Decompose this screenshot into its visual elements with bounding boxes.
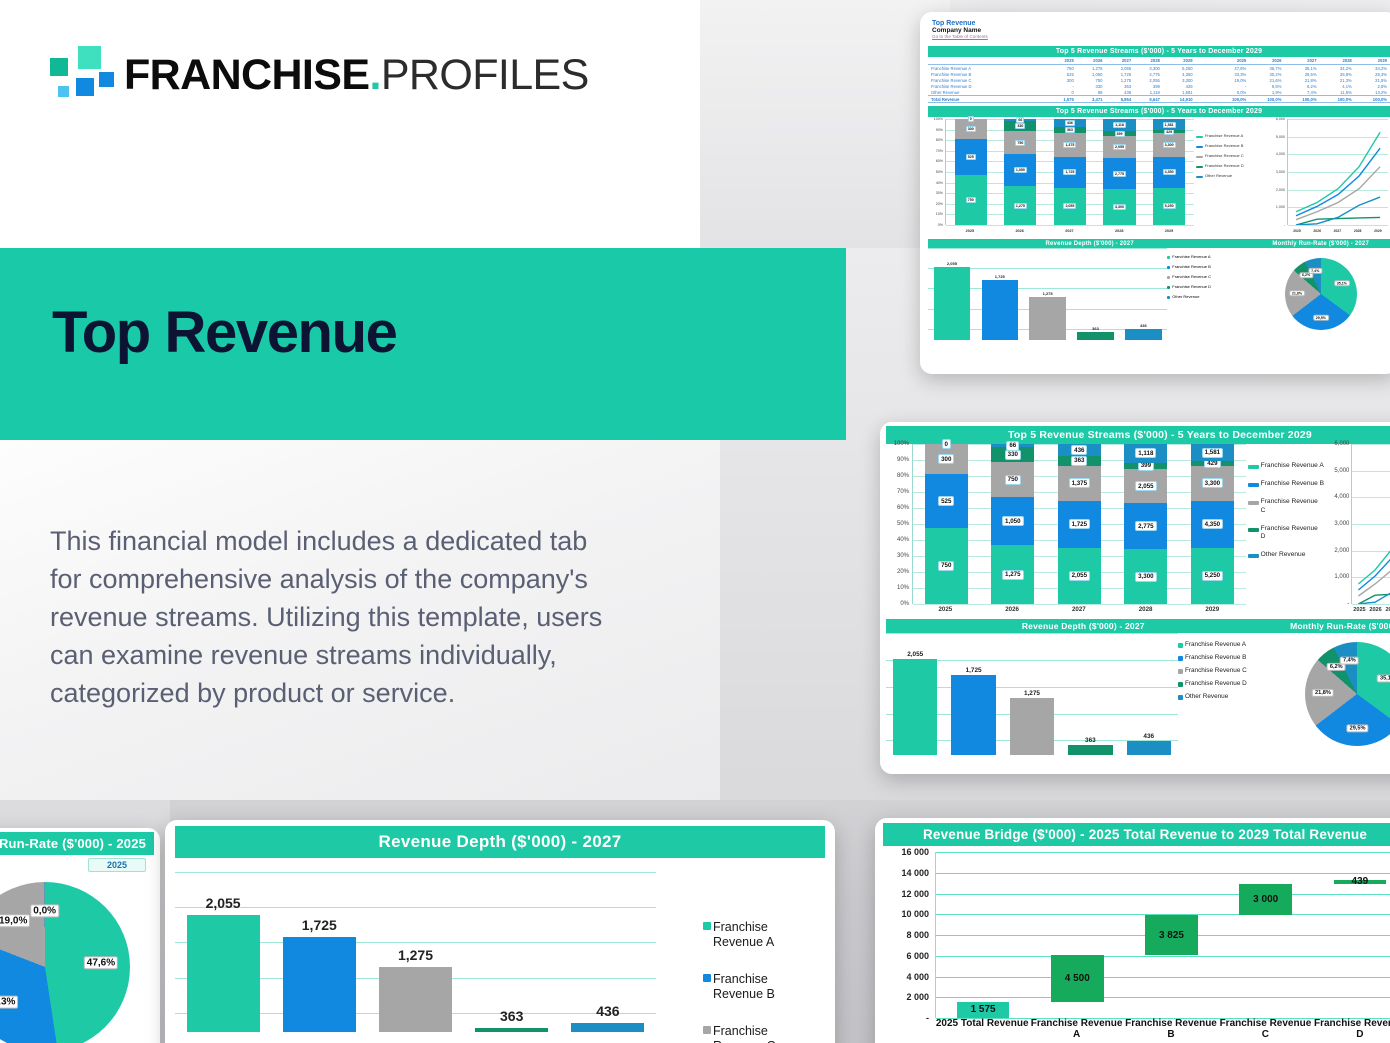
- x-tick: 2027: [1065, 229, 1073, 233]
- bar-segment[interactable]: 1,725: [1054, 157, 1086, 188]
- pie-chart-block-mini: Monthly Run-Rate ($'000) - 2027 35,1%29,…: [1251, 239, 1390, 340]
- bar-value-label: 750: [1005, 475, 1021, 485]
- depth-bar[interactable]: 1,275: [1010, 690, 1054, 755]
- line-plot-area: [1287, 119, 1388, 225]
- gridline: [936, 873, 1390, 874]
- line-series: [1359, 562, 1390, 604]
- legend-label: Other Revenue: [1185, 693, 1228, 701]
- waterfall-bar[interactable]: 1 575: [957, 1002, 1010, 1018]
- stacked-bar[interactable]: 1,2751,05075033066: [1004, 119, 1036, 225]
- bar-segment[interactable]: 399: [1103, 131, 1135, 135]
- bar-value-label: 750: [938, 561, 954, 571]
- bar-rect: [475, 1028, 548, 1032]
- sheet-table-title: Top 5 Revenue Streams ($'000) - 5 Years …: [928, 46, 1390, 57]
- bar-segment[interactable]: 1,581: [1191, 444, 1234, 461]
- depth-bar[interactable]: 2,055: [187, 895, 260, 1032]
- chart-title-runrate-a: Monthly Run-Rate ($'000) - 2027: [1251, 239, 1390, 248]
- legend-label: Franchise Revenue C: [713, 1024, 815, 1043]
- bar-value-label: 436: [1143, 733, 1154, 740]
- bar-value-label: 750: [1015, 140, 1025, 146]
- stacked-bar[interactable]: 7505253000: [925, 444, 968, 604]
- bar-value-label: 1,275: [398, 947, 433, 963]
- bar-value-label: 363: [1065, 127, 1075, 133]
- line-series: [1296, 167, 1380, 220]
- depth-chart-block-mini: Revenue Depth ($'000) - 2027 2,0551,7251…: [928, 239, 1251, 340]
- legend-item: Franchise Revenue B: [1248, 480, 1325, 488]
- bar-segment[interactable]: 436: [1058, 444, 1101, 456]
- stacked-bar[interactable]: 3,3002,7752,0553991,118: [1124, 444, 1167, 604]
- legend-item: Other Revenue: [1196, 173, 1270, 178]
- y-tick: 1,000: [1334, 574, 1349, 580]
- legend-item: Franchise Revenue B: [1196, 143, 1270, 148]
- legend-label: Franchise Revenue D: [1205, 163, 1244, 168]
- bar-segment[interactable]: 66: [991, 444, 1034, 447]
- legend-item: Other Revenue: [1167, 294, 1251, 299]
- pie-slice-label: 7,4%: [1308, 268, 1322, 274]
- legend-item: Franchise Revenue C: [703, 1024, 815, 1043]
- line-chart[interactable]: 6,0005,0004,0003,0002,0001,000-202520262…: [1324, 444, 1390, 616]
- y-tick: 6 000: [906, 951, 929, 961]
- bar-value-label: 0: [968, 116, 974, 122]
- bar-segment[interactable]: 1,118: [1124, 444, 1167, 463]
- depth-bar[interactable]: 363: [1068, 737, 1112, 755]
- x-tick: 2026: [1015, 229, 1023, 233]
- depth-legend-large: Franchise Revenue AFranchise Revenue BFr…: [703, 920, 815, 1043]
- table-col-year: 2028: [1134, 57, 1163, 65]
- x-tick: 2025 Total Revenue: [935, 1018, 1029, 1040]
- y-tick: 10%: [936, 212, 943, 216]
- bar-rect: [1127, 741, 1171, 755]
- bar-rect: [951, 675, 995, 755]
- y-tick: 100%: [934, 117, 943, 121]
- big-second-row: Revenue Depth ($'000) - 2027 2,0551,7251…: [886, 619, 1390, 755]
- bar-value-label: 66: [1016, 117, 1024, 123]
- y-tick: 70%: [936, 149, 943, 153]
- legend-item: Franchise Revenue A: [703, 920, 815, 950]
- bar-value-label: 363: [1071, 456, 1087, 466]
- bar-segment[interactable]: 2,775: [1103, 158, 1135, 188]
- bar-value-label: 2,055: [947, 261, 957, 266]
- depth-bar[interactable]: 1,275: [1029, 291, 1065, 340]
- y-axis: 100%90%80%70%60%50%40%30%20%10%0%: [886, 444, 910, 604]
- bar-value-label: 3,300: [1113, 204, 1126, 210]
- plot-area: 75052530001,2751,050750330662,0551,7251,…: [945, 119, 1194, 225]
- gridline: [886, 633, 1178, 634]
- bar-segment[interactable]: 1,275: [991, 545, 1034, 604]
- chart-title-runrate-b: Monthly Run-Rate ($'000) - 2027: [1281, 619, 1390, 633]
- waterfall-chart[interactable]: 16 00014 00012 00010 0008 0006 0004 0002…: [883, 852, 1390, 1040]
- bar-segment[interactable]: 429: [1153, 130, 1185, 133]
- bar-rect: [1029, 297, 1065, 340]
- bar-rect: [1010, 698, 1054, 755]
- depth-bar[interactable]: 1,725: [982, 274, 1018, 340]
- stacked-bar-chart-mini[interactable]: 100%90%80%70%60%50%40%30%20%10%0%7505253…: [928, 119, 1196, 237]
- bar-value-label: 2,775: [1135, 521, 1156, 531]
- bar-value-label: 1,725: [1063, 169, 1076, 175]
- legend-item: Franchise Revenue C: [1178, 667, 1281, 675]
- bar-value-label: 2,775: [1113, 171, 1126, 177]
- bar-value-label: 1,375: [1069, 478, 1090, 488]
- y-tick: 2,000: [1276, 188, 1285, 192]
- x-axis: 20252026202720282029: [945, 225, 1194, 237]
- y-tick: -: [1347, 601, 1349, 607]
- y-tick: 0%: [900, 601, 909, 607]
- gridline: [175, 872, 656, 873]
- pie-chart-mini[interactable]: 35,1%29,5%21,8%6,2%7,4%: [1251, 248, 1390, 340]
- legend-item: Franchise Revenue C: [1248, 498, 1325, 514]
- table-col-year: 2027: [1105, 57, 1134, 65]
- depth-bars[interactable]: 2,0551,7251,275363436: [886, 633, 1178, 755]
- y-tick: 8 000: [906, 930, 929, 940]
- line-series-group: [1288, 119, 1388, 225]
- y-tick: 10 000: [901, 909, 929, 919]
- waterfall-plot-area: 1 5754 5003 8253 000439: [935, 852, 1390, 1018]
- bar-segment[interactable]: 750: [955, 175, 987, 225]
- sheet-subheading: Company Name: [932, 27, 1386, 34]
- depth-bar[interactable]: 363: [1077, 326, 1113, 340]
- bar-value-label: 1,725: [302, 917, 337, 933]
- gridline: [928, 248, 1167, 249]
- stacked-bar[interactable]: 5,2504,3503,3004291,581: [1153, 119, 1185, 225]
- depth-bar[interactable]: 436: [1125, 323, 1161, 340]
- screenshot-card-pie[interactable]: Monthly Run-Rate ($'000) - 2025 2025 47,…: [0, 828, 160, 1043]
- waterfall-bar[interactable]: 3 825: [1145, 915, 1198, 955]
- bar-segment[interactable]: 2,055: [1058, 548, 1101, 604]
- legend-item: Franchise Revenue A: [1167, 254, 1251, 259]
- line-series: [1359, 488, 1390, 590]
- bar-rect: [187, 915, 260, 1032]
- background-gray-block: [700, 0, 950, 248]
- legend-item: Franchise Revenue B: [1167, 264, 1251, 269]
- bar-value-label: 436: [1140, 323, 1147, 328]
- bar-value-label: 1,725: [1069, 519, 1090, 529]
- legend-label: Franchise Revenue B: [1185, 654, 1246, 662]
- bar-value-label: 750: [966, 197, 976, 203]
- legend-label: Franchise Revenue A: [1185, 641, 1246, 649]
- logo-text-dot: .: [369, 51, 380, 99]
- x-tick: Franchise Revenue C: [1218, 1018, 1312, 1040]
- bar-value-label: 1 575: [971, 1004, 996, 1015]
- big-chart-row: 100%90%80%70%60%50%40%30%20%10%0%7505253…: [886, 444, 1390, 616]
- x-tick: 2029: [1165, 229, 1173, 233]
- stacked-bar[interactable]: 2,0551,7251,375363436: [1058, 444, 1101, 604]
- screenshot-card-waterfall[interactable]: Revenue Bridge ($'000) - 2025 Total Reve…: [875, 818, 1390, 1043]
- mini-second-row: Revenue Depth ($'000) - 2027 2,0551,7251…: [928, 239, 1390, 340]
- bar-value-label: 5,250: [1163, 203, 1176, 209]
- bar-value-label: 1,275: [1043, 291, 1053, 296]
- table-col-year: 2026: [1077, 57, 1106, 65]
- y-tick: 60%: [936, 159, 943, 163]
- bar-segment[interactable]: 5,250: [1153, 188, 1185, 225]
- depth-bar[interactable]: 363: [475, 1008, 548, 1032]
- gridline: [936, 956, 1390, 957]
- bar-value-label: 66: [1006, 441, 1019, 451]
- screenshot-card-spreadsheet[interactable]: Top Revenue Company Name Go to the Table…: [920, 12, 1390, 374]
- bar-rect: [379, 967, 452, 1032]
- table-header-row: 2025202620272028202920252026202720282029: [928, 57, 1390, 65]
- bar-value-label: 2,055: [206, 895, 241, 911]
- y-tick: 16 000: [901, 847, 929, 857]
- hero-banner: Top Revenue: [0, 248, 846, 440]
- depth-legend: Franchise Revenue AFranchise Revenue BFr…: [1178, 633, 1281, 755]
- bar-segment[interactable]: 525: [955, 139, 987, 174]
- y-tick: 40%: [897, 537, 909, 543]
- bar-value-label: 1,581: [1163, 122, 1176, 128]
- stacked-bar[interactable]: 2,0551,7251,375363436: [1054, 119, 1086, 225]
- table-total-row: Total Revenue1,5753,4715,8549,64714,9101…: [928, 96, 1390, 103]
- bar-segment[interactable]: 525: [925, 474, 968, 527]
- pie-chart-2025[interactable]: 47,6%33,3%19,0%0,0%0,0%: [0, 877, 154, 1043]
- y-tick: 80%: [897, 473, 909, 479]
- bar-segment[interactable]: 66: [1004, 119, 1036, 121]
- bar-value-label: 300: [938, 454, 954, 464]
- toc-link[interactable]: Go to the Table of Contents: [932, 34, 1386, 39]
- legend-item: Other Revenue: [1178, 693, 1281, 701]
- bar-segment[interactable]: 3,300: [1103, 189, 1135, 225]
- table-col-pct: 2027: [1284, 57, 1319, 65]
- bar-segment[interactable]: 429: [1191, 461, 1234, 466]
- chart-title-stacked-a: Top 5 Revenue Streams ($'000) - 5 Years …: [928, 106, 1390, 117]
- line-plot-area: [1351, 444, 1390, 604]
- bar-value-label: 2,055: [1113, 144, 1126, 150]
- stacked-bar[interactable]: 3,3002,7752,0553991,118: [1103, 119, 1135, 225]
- bar-segment[interactable]: 1,275: [1004, 186, 1036, 225]
- pie-slice-label: 21,8%: [1289, 290, 1305, 296]
- depth-bars-mini[interactable]: 2,0551,7251,275363436: [928, 248, 1167, 340]
- page-title: Top Revenue: [52, 304, 396, 362]
- line-series: [1296, 132, 1380, 212]
- bar-segment[interactable]: 750: [1004, 131, 1036, 154]
- y-tick: 14 000: [901, 868, 929, 878]
- logo-text-bold: FRANCHISE: [124, 51, 369, 99]
- bar-segment[interactable]: 1,050: [1004, 154, 1036, 186]
- bar-value-label: 3 000: [1253, 894, 1278, 905]
- pie-chart-block: Monthly Run-Rate ($'000) - 2027 35,1%29,…: [1281, 619, 1390, 755]
- bar-value-label: 3 825: [1159, 930, 1184, 941]
- bar-value-label: 330: [1005, 450, 1021, 460]
- y-tick: -: [926, 1013, 929, 1023]
- depth-bar[interactable]: 436: [1127, 733, 1171, 755]
- bar-value-label: 1,275: [1014, 203, 1027, 209]
- bar-value-label: 2,055: [907, 651, 923, 658]
- bar-value-label: 1,118: [1135, 448, 1156, 458]
- legend-item: Franchise Revenue A: [1196, 133, 1270, 138]
- bar-segment[interactable]: 3,300: [1153, 133, 1185, 156]
- bar-value-label: 399: [1115, 131, 1125, 137]
- bar-value-label: 1,050: [1014, 167, 1027, 173]
- bar-rect: [1077, 332, 1113, 340]
- y-tick: 40%: [936, 181, 943, 185]
- bar-segment[interactable]: 3,300: [1191, 466, 1234, 501]
- pie-slice-label: 35,1%: [1377, 675, 1390, 683]
- bar-value-label: 1,275: [1024, 690, 1040, 697]
- bar-segment[interactable]: 2,055: [1124, 469, 1167, 503]
- pie-slice-label: 21,8%: [1312, 689, 1334, 697]
- table-col-pct: 2025: [1214, 57, 1249, 65]
- y-tick: 5,000: [1334, 468, 1349, 474]
- line-chart-mini[interactable]: 6,0005,0004,0003,0002,0001,000-202520262…: [1270, 119, 1390, 237]
- line-x-axis: 20252026202720282029: [1351, 604, 1390, 616]
- bar-segment[interactable]: 2,055: [1103, 136, 1135, 159]
- bar-value-label: 3,300: [1135, 572, 1156, 582]
- depth-bars-large[interactable]: 2,0551,7251,275363436: [175, 872, 656, 1032]
- bar-segment[interactable]: 436: [1054, 119, 1086, 127]
- stacked-bar[interactable]: 5,2504,3503,3004291,581: [1191, 444, 1234, 604]
- y-tick: 50%: [936, 170, 943, 174]
- pie-slice-label: 7,4%: [1340, 657, 1359, 665]
- screenshot-card-charts[interactable]: Top 5 Revenue Streams ($'000) - 5 Years …: [880, 422, 1390, 774]
- depth-bar[interactable]: 1,725: [951, 667, 995, 755]
- legend-item: Franchise Revenue B: [1178, 654, 1281, 662]
- y-tick: 6,000: [1276, 117, 1285, 121]
- bar-segment[interactable]: 5,250: [1191, 548, 1234, 604]
- stacked-legend: Franchise Revenue AFranchise Revenue BFr…: [1248, 444, 1325, 616]
- legend-item: Franchise Revenue D: [1167, 284, 1251, 289]
- bar-segment[interactable]: 363: [1058, 456, 1101, 466]
- table-col-pct: 2028: [1320, 57, 1355, 65]
- y-tick: -: [1284, 223, 1285, 227]
- bar-segment[interactable]: 1,050: [991, 497, 1034, 545]
- y-tick: 4,000: [1334, 494, 1349, 500]
- bar-value-label: 1,375: [1063, 142, 1076, 148]
- depth-bar[interactable]: 1,725: [283, 917, 356, 1032]
- bar-value-label: 436: [1065, 120, 1075, 126]
- bar-value-label: 4,350: [1202, 519, 1223, 529]
- depth-bar[interactable]: 1,275: [379, 947, 452, 1032]
- legend-label: Other Revenue: [1261, 551, 1306, 559]
- stacked-bar-chart[interactable]: 100%90%80%70%60%50%40%30%20%10%0%7505253…: [886, 444, 1248, 616]
- bar-value-label: 3,300: [1202, 478, 1223, 488]
- y-tick: 2 000: [906, 992, 929, 1002]
- chart-title-runrate-2025: Monthly Run-Rate ($'000) - 2025: [0, 832, 154, 855]
- bar-value-label: 1,118: [1113, 122, 1126, 128]
- x-tick: 2028: [1115, 229, 1123, 233]
- bar-value-label: 0: [942, 439, 951, 449]
- y-tick: 3,000: [1276, 170, 1285, 174]
- y-tick: 30%: [897, 553, 909, 559]
- brand-logo: FRANCHISE.PROFILES: [48, 44, 548, 108]
- bar-value-label: 2,055: [1135, 481, 1156, 491]
- chart-title-depth-d: Revenue Depth ($'000) - 2027: [175, 826, 825, 858]
- bar-segment[interactable]: 1,581: [1153, 119, 1185, 130]
- waterfall-bar[interactable]: 4 500: [1051, 955, 1104, 1002]
- y-tick: 20%: [936, 202, 943, 206]
- table-col-year: 2029: [1163, 57, 1196, 65]
- y-tick: 90%: [897, 457, 909, 463]
- bar-segment[interactable]: 2,775: [1124, 503, 1167, 549]
- stacked-bar[interactable]: 1,2751,05075033066: [991, 444, 1034, 604]
- line-x-axis: 20252026202720282029: [1287, 225, 1388, 237]
- depth-bar[interactable]: 2,055: [893, 651, 937, 755]
- bar-segment[interactable]: 399: [1124, 463, 1167, 470]
- gridline: [936, 997, 1390, 998]
- x-axis: 20252026202720282029: [912, 602, 1246, 616]
- table-col-pct: 2029: [1355, 57, 1390, 65]
- pie-slice-label: 29,5%: [1347, 724, 1369, 732]
- bar-value-label: 525: [966, 154, 976, 160]
- bar-value-label: 5,250: [1202, 571, 1223, 581]
- x-tick: Franchise Revenue A: [1029, 1018, 1123, 1040]
- bar-segment[interactable]: 750: [925, 528, 968, 604]
- waterfall-bar[interactable]: 3 000: [1239, 884, 1292, 915]
- bar-rect: [571, 1023, 644, 1032]
- bar-segment[interactable]: 2,055: [1054, 188, 1086, 225]
- bar-segment[interactable]: 3,300: [1124, 549, 1167, 604]
- stacked-bar[interactable]: 7505253000: [955, 119, 987, 225]
- table-col-pct: 2026: [1249, 57, 1284, 65]
- bar-segment[interactable]: 363: [1054, 127, 1086, 134]
- sheet-header: Top Revenue Company Name Go to the Table…: [928, 18, 1390, 43]
- bar-value-label: 1,725: [995, 274, 1005, 279]
- y-tick: 4,000: [1276, 152, 1285, 156]
- y-tick: 2,000: [1334, 548, 1349, 554]
- bar-rect: [934, 267, 970, 340]
- bar-value-label: 1,050: [1002, 516, 1023, 526]
- depth-bar[interactable]: 2,055: [934, 261, 970, 340]
- screenshot-card-depth[interactable]: Revenue Depth ($'000) - 2027 2,0551,7251…: [165, 820, 835, 1043]
- legend-label: Franchise Revenue A: [1205, 133, 1243, 138]
- pie-slice-label: 47,6%: [84, 956, 118, 969]
- line-series: [1359, 516, 1390, 596]
- bar-segment[interactable]: 1,725: [1058, 501, 1101, 548]
- y-tick: 70%: [897, 489, 909, 495]
- x-tick: Franchise Revenue B: [1124, 1018, 1218, 1040]
- chart-title-depth-b: Revenue Depth ($'000) - 2027: [886, 619, 1281, 633]
- depth-legend-mini: Franchise Revenue AFranchise Revenue BFr…: [1167, 248, 1251, 340]
- waterfall-bar[interactable]: 439: [1334, 880, 1387, 885]
- bar-value-label: 363: [500, 1008, 523, 1024]
- x-tick: 2026: [1005, 606, 1019, 613]
- bar-segment[interactable]: 4,350: [1191, 501, 1234, 548]
- x-tick: 2027: [1072, 606, 1086, 613]
- bar-value-label: 2,055: [1063, 203, 1076, 209]
- bar-segment[interactable]: 300: [955, 119, 987, 139]
- legend-label: Franchise Revenue C: [1261, 498, 1325, 514]
- bar-rect: [893, 659, 937, 755]
- bar-segment[interactable]: 750: [991, 462, 1034, 497]
- y-tick: 3,000: [1334, 521, 1349, 527]
- pie-slice-label: 35,1%: [1334, 280, 1350, 286]
- bar-value-label: 4 500: [1065, 973, 1090, 984]
- legend-item: Franchise Revenue A: [1178, 641, 1281, 649]
- pie-slice-label: 0,0%: [30, 904, 59, 917]
- year-tab-2025[interactable]: 2025: [88, 858, 146, 872]
- chart-title-stacked-b: Top 5 Revenue Streams ($'000) - 5 Years …: [886, 426, 1390, 444]
- revenue-table: 2025202620272028202920252026202720282029…: [928, 57, 1390, 103]
- legend-item: Franchise Revenue D: [1196, 163, 1270, 168]
- stacked-legend-mini: Franchise Revenue AFranchise Revenue BFr…: [1196, 119, 1270, 237]
- legend-label: Franchise Revenue B: [713, 972, 815, 1002]
- legend-label: Franchise Revenue C: [1185, 667, 1247, 675]
- y-tick: 90%: [936, 128, 943, 132]
- legend-label: Franchise Revenue B: [1261, 480, 1324, 488]
- depth-bar[interactable]: 436: [571, 1003, 644, 1032]
- bar-segment[interactable]: 1,118: [1103, 119, 1135, 131]
- pie-chart[interactable]: 35,1%29,5%21,8%6,2%7,4%: [1281, 633, 1390, 755]
- pie-slice-label: 29,5%: [1313, 315, 1329, 321]
- plot-area: 75052530001,2751,050750330662,0551,7251,…: [912, 444, 1246, 604]
- bar-segment[interactable]: 4,350: [1153, 157, 1185, 188]
- background-white-block: [0, 0, 720, 248]
- y-tick: 4 000: [906, 972, 929, 982]
- bar-rect: [982, 280, 1018, 340]
- bar-segment[interactable]: 1,375: [1058, 466, 1101, 501]
- bar-value-label: 2,055: [1069, 571, 1090, 581]
- table-col-year: 2025: [1048, 57, 1077, 65]
- bar-segment[interactable]: 1,375: [1054, 133, 1086, 156]
- legend-label: Franchise Revenue A: [1172, 254, 1210, 259]
- y-tick: 12 000: [901, 889, 929, 899]
